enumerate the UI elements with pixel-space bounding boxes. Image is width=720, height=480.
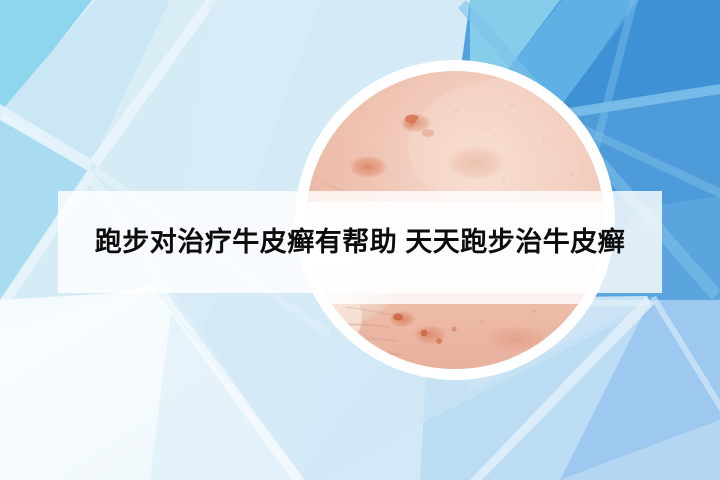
lesion-core-7: [451, 326, 456, 331]
page-title: 跑步对治疗牛皮癣有帮助 天天跑步治牛皮癣: [95, 229, 626, 256]
lesion-patch-5: [412, 324, 448, 346]
lesion-patch-6: [482, 325, 550, 353]
poster-canvas: 跑步对治疗牛皮癣有帮助 天天跑步治牛皮癣: [0, 0, 720, 480]
lesion-core-6: [436, 338, 442, 344]
title-banner: 跑步对治疗牛皮癣有帮助 天天跑步治牛皮癣: [58, 191, 662, 293]
lesion-patch-2: [348, 155, 388, 179]
lesion-core-5: [421, 330, 428, 337]
lesion-core-4: [393, 314, 403, 321]
